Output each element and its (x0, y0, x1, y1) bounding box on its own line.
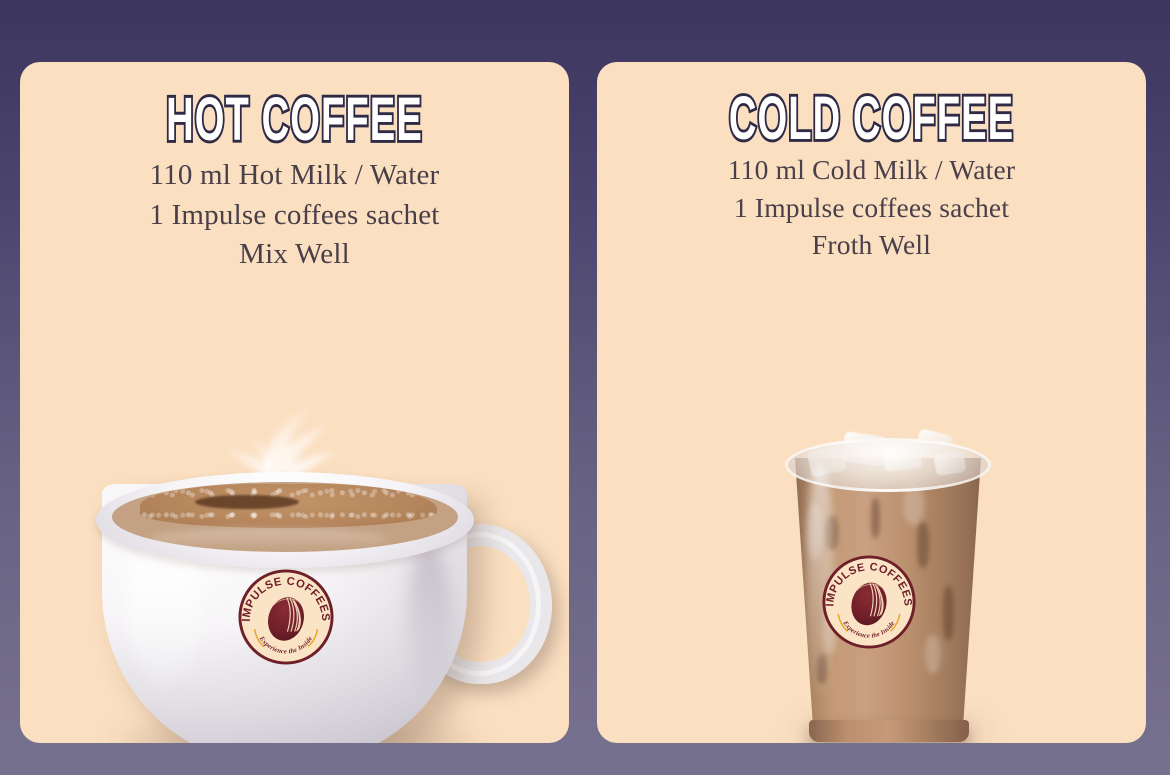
hot-coffee-line-3: Mix Well (20, 235, 569, 275)
hot-coffee-liquid (112, 482, 458, 552)
coffee-dark-patch (195, 495, 299, 509)
hot-coffee-cup-illustration: IMPULSE COFFEES (82, 372, 562, 743)
impulse-coffees-logo-badge-cold: IMPULSE COFFEES (821, 554, 917, 650)
impulse-coffees-logo-badge-hot: IMPULSE COFFEES (237, 568, 335, 666)
hot-coffee-line-1: 110 ml Hot Milk / Water (20, 156, 569, 196)
cold-coffee-cup-illustration: IMPULSE COFFEES (759, 430, 1019, 743)
cold-coffee-line-1: 110 ml Cold Milk / Water (597, 151, 1146, 189)
coffee-surface-sheen (147, 528, 389, 550)
hot-coffee-title: HOT COFFEE (97, 89, 492, 150)
hot-coffee-card[interactable]: HOT COFFEE 110 ml Hot Milk / Water 1 Imp… (20, 62, 569, 743)
hot-coffee-text-block: HOT COFFEE 110 ml Hot Milk / Water 1 Imp… (20, 62, 569, 275)
cold-coffee-text-block: COLD COFFEE 110 ml Cold Milk / Water 1 I… (597, 62, 1146, 264)
poster-stage: HOT COFFEE 110 ml Hot Milk / Water 1 Imp… (0, 0, 1170, 775)
hot-coffee-line-2: 1 Impulse coffees sachet (20, 196, 569, 236)
cold-cup-base (809, 720, 969, 742)
cold-coffee-title: COLD COFFEE (674, 88, 1069, 149)
cold-coffee-line-3: Froth Well (597, 226, 1146, 264)
hot-coffee-recipe-lines: 110 ml Hot Milk / Water 1 Impulse coffee… (20, 156, 569, 275)
cold-coffee-line-2: 1 Impulse coffees sachet (597, 189, 1146, 227)
cold-coffee-recipe-lines: 110 ml Cold Milk / Water 1 Impulse coffe… (597, 151, 1146, 264)
cold-coffee-card[interactable]: COLD COFFEE 110 ml Cold Milk / Water 1 I… (597, 62, 1146, 743)
